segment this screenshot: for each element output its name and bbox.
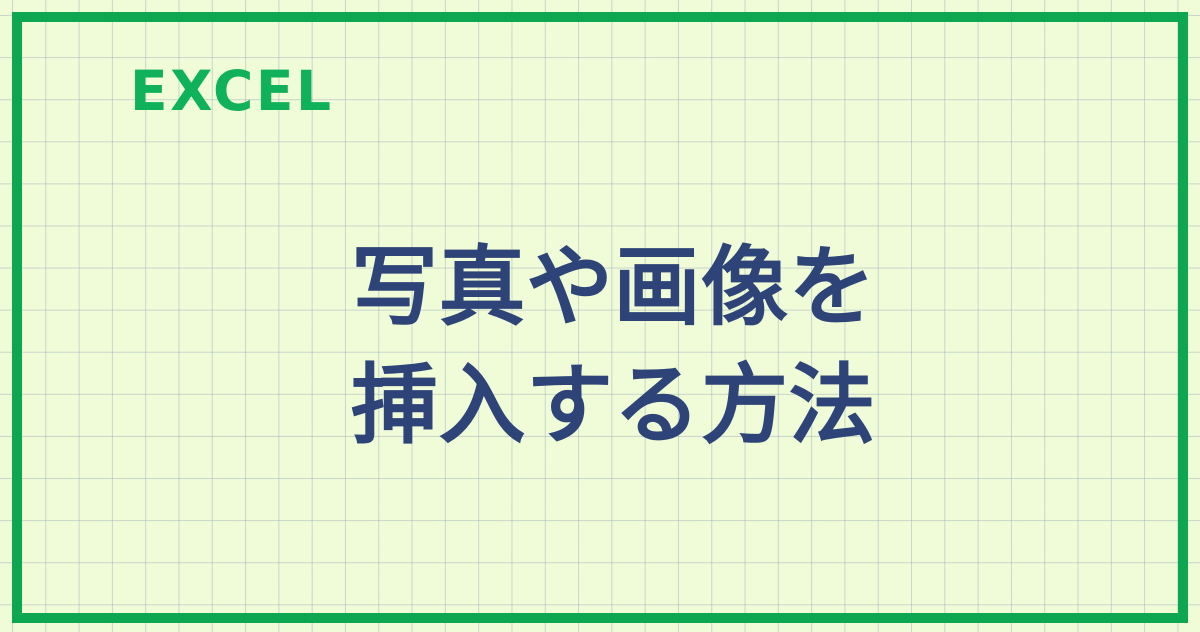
headline-line-1: 写真や画像を (351, 228, 971, 346)
content-area: EXCEL 写真や画像を 挿入する方法 (0, 0, 1200, 632)
headline-block: 写真や画像を 挿入する方法 (351, 228, 971, 464)
eyebrow-category-label: EXCEL (130, 64, 334, 119)
headline-line-2: 挿入する方法 (351, 346, 971, 464)
thumbnail-canvas: EXCEL 写真や画像を 挿入する方法 (0, 0, 1200, 632)
